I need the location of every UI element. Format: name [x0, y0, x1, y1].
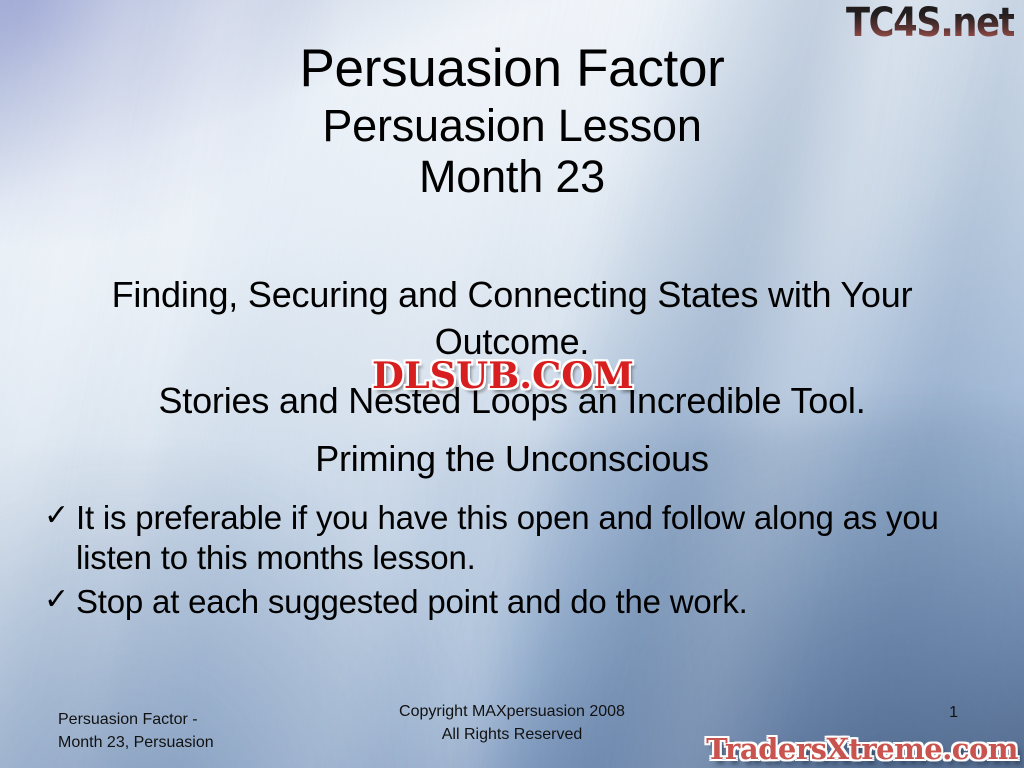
copyright-line: Copyright MAXpersuasion 2008 — [0, 700, 1024, 723]
title-line-1: Persuasion Factor — [0, 42, 1024, 95]
check-icon: ✓ — [44, 582, 76, 619]
subtitle-paragraph-3: Priming the Unconscious — [58, 436, 966, 483]
page-title: Persuasion Factor Persuasion Lesson Mont… — [0, 42, 1024, 205]
title-line-3: Month 23 — [0, 154, 1024, 199]
title-line-2: Persuasion Lesson — [0, 103, 1024, 148]
subtitle-paragraph-1: Finding, Securing and Connecting States … — [58, 272, 966, 366]
dlsub-watermark: DLSUB.COM — [372, 358, 634, 394]
list-item: ✓ Stop at each suggested point and do th… — [44, 582, 944, 622]
slide-canvas: TC4S.net Persuasion Factor Persuasion Le… — [0, 0, 1024, 768]
list-item: ✓ It is preferable if you have this open… — [44, 498, 944, 577]
bullet-list: ✓ It is preferable if you have this open… — [44, 498, 944, 627]
check-icon: ✓ — [44, 498, 76, 535]
tradersxtreme-logo: TradersXtreme.com — [706, 734, 1018, 766]
tc4s-logo: TC4S.net — [846, 2, 1014, 44]
bullet-item-text-2: Stop at each suggested point and do the … — [76, 582, 944, 622]
page-number: 1 — [949, 704, 958, 722]
bullet-item-text-1: It is preferable if you have this open a… — [76, 498, 944, 577]
